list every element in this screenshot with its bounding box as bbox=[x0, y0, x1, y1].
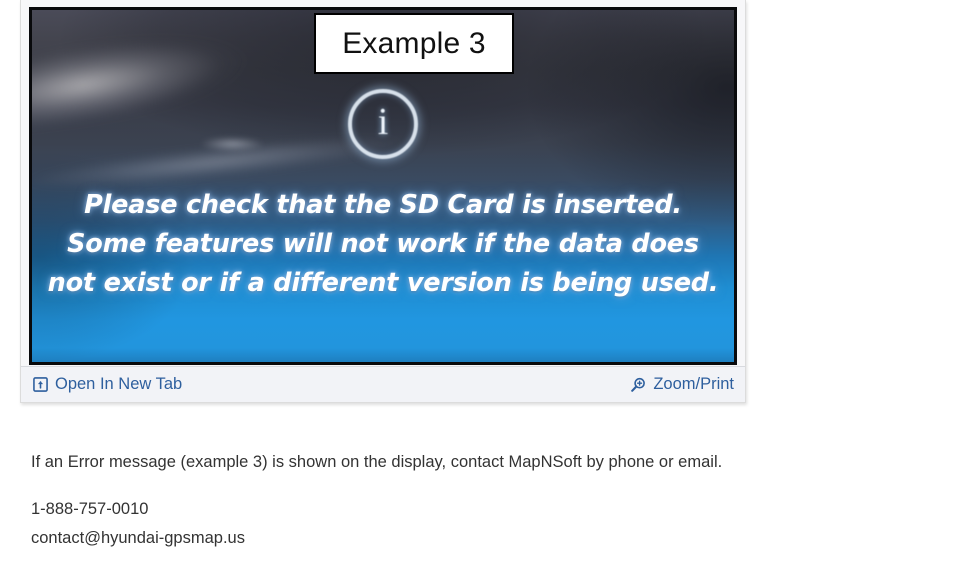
contact-email: contact@hyundai-gpsmap.us bbox=[31, 526, 891, 551]
zoom-print-button[interactable]: Zoom/Print bbox=[630, 376, 734, 393]
example-label-box: Example 3 bbox=[314, 13, 514, 74]
message-line-2: Some features will not work if the data … bbox=[32, 225, 734, 264]
sd-card-error-message: Please check that the SD Card is inserte… bbox=[32, 186, 734, 302]
image-toolbar: Open In New Tab Zoom/Print bbox=[21, 366, 745, 402]
open-in-new-tab-button[interactable]: Open In New Tab bbox=[33, 376, 182, 393]
zoom-print-label: Zoom/Print bbox=[653, 376, 734, 393]
article-body: If an Error message (example 3) is shown… bbox=[31, 450, 891, 550]
open-in-new-tab-label: Open In New Tab bbox=[55, 376, 182, 393]
info-icon-glyph: i bbox=[378, 103, 389, 141]
info-circle-icon: i bbox=[348, 89, 418, 159]
intro-paragraph: If an Error message (example 3) is shown… bbox=[31, 450, 891, 475]
message-line-1: Please check that the SD Card is inserte… bbox=[32, 186, 734, 225]
example-label-text: Example 3 bbox=[342, 27, 486, 61]
photo-frame[interactable]: i Please check that the SD Card is inser… bbox=[29, 7, 737, 365]
message-line-3: not exist or if a different version is b… bbox=[32, 264, 734, 303]
image-viewer-widget: i Please check that the SD Card is inser… bbox=[20, 0, 746, 403]
open-in-new-tab-icon bbox=[33, 377, 48, 392]
magnifier-plus-icon bbox=[630, 377, 646, 393]
contact-phone: 1-888-757-0010 bbox=[31, 497, 891, 522]
screen-glare-highlight bbox=[200, 137, 263, 151]
